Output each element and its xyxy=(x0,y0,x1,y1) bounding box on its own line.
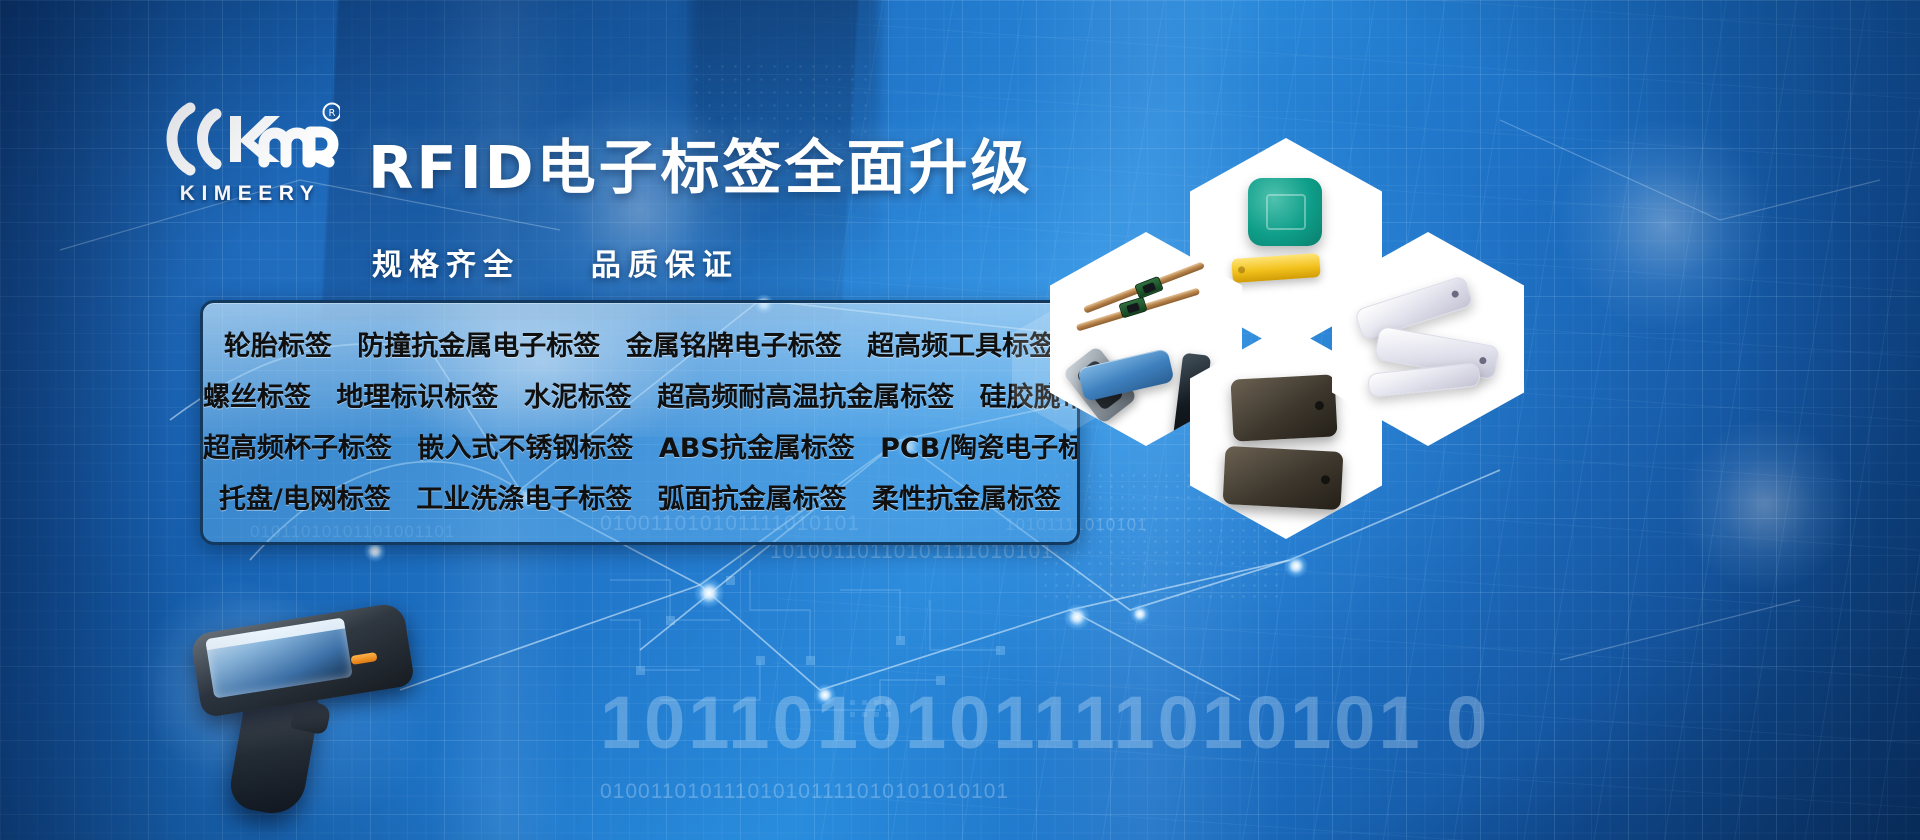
product-item[interactable]: 水泥标签 xyxy=(524,382,632,413)
product-item[interactable]: 托盘/电网标签 xyxy=(219,484,391,515)
product-item[interactable]: 地理标识标签 xyxy=(336,382,498,413)
dark-abs-tag xyxy=(1223,446,1344,510)
product-item[interactable]: 防撞抗金属电子标签 xyxy=(357,331,600,362)
product-item[interactable]: ABS抗金属标签 xyxy=(659,433,855,464)
brand-logo[interactable]: R KIMEERY xyxy=(160,100,340,215)
rod-chip xyxy=(1118,297,1147,319)
product-item[interactable]: 超高频杯子标签 xyxy=(203,433,392,464)
product-item[interactable]: 轮胎标签 xyxy=(224,331,332,362)
dark-abs-tag xyxy=(1230,374,1337,441)
rod-chip xyxy=(1134,276,1164,299)
product-item[interactable]: 螺丝标签 xyxy=(203,382,311,413)
product-item[interactable]: 超高频耐高温抗金属标签 xyxy=(657,382,954,413)
teal-disc-tag xyxy=(1248,178,1322,246)
subtitle: 规格齐全 品质保证 xyxy=(372,240,739,284)
subtitle-right: 品质保证 xyxy=(591,248,739,283)
kimeery-mark-icon: R xyxy=(160,100,340,178)
registered-icon: R xyxy=(324,104,341,121)
product-item[interactable]: 金属铭牌电子标签 xyxy=(626,331,842,362)
product-item[interactable]: 弧面抗金属标签 xyxy=(658,484,847,515)
subtitle-left: 规格齐全 xyxy=(372,248,520,283)
handheld-rfid-reader[interactable] xyxy=(175,610,455,840)
hex-product-gallery xyxy=(940,150,1580,570)
product-item[interactable]: 工业洗涤电子标签 xyxy=(416,484,632,515)
svg-text:R: R xyxy=(329,108,336,119)
binary-text-large: 1011010101111010101 0 xyxy=(600,680,1490,765)
product-item[interactable]: 嵌入式不锈钢标签 xyxy=(417,433,633,464)
kimeery-wave-mark: R xyxy=(160,100,340,178)
rfid-promo-banner: 01011010101101001101 0100110101011110101… xyxy=(0,0,1920,840)
binary-text: 010011010111010101111010101010101 xyxy=(600,780,1009,804)
brand-wordmark: KIMEERY xyxy=(160,182,340,206)
page-title: RFID电子标签全面升级 xyxy=(368,120,1033,205)
white-flexible-tag xyxy=(1367,362,1481,398)
yellow-bar-tag xyxy=(1231,253,1320,283)
